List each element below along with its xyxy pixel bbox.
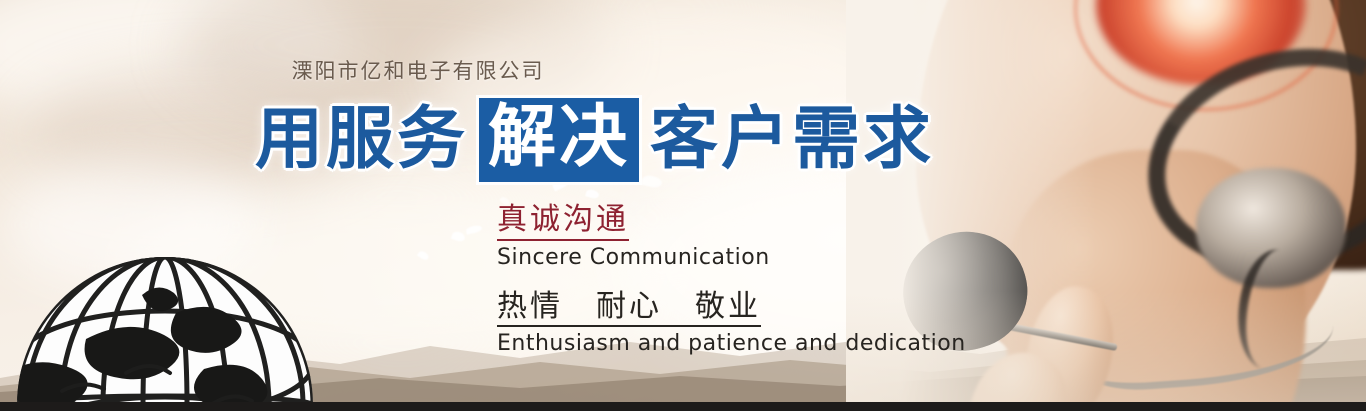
headline-tail: 客户需求 xyxy=(650,106,934,174)
slogan-2-chinese: 热情 耐心 敬业 xyxy=(497,290,761,328)
slogan-1-chinese: 真诚沟通 xyxy=(497,203,629,241)
company-name: 溧阳市亿和电子有限公司 xyxy=(0,55,1366,85)
bottom-strip xyxy=(0,402,1366,411)
slogan-2-english: Enthusiasm and patience and dedication xyxy=(497,331,966,356)
headline: 用服务 解决 客户需求 xyxy=(255,98,934,182)
headline-lead: 用服务 xyxy=(255,106,468,174)
slogan-item-2: 热情 耐心 敬业 Enthusiasm and patience and ded… xyxy=(497,290,966,357)
slogan-block: 真诚沟通 Sincere Communication 热情 耐心 敬业 Enth… xyxy=(497,203,966,365)
headline-highlight: 解决 xyxy=(479,98,639,182)
promotional-banner: 溧阳市亿和电子有限公司 用服务 解决 客户需求 真诚沟通 Sincere Com… xyxy=(0,0,1366,411)
slogan-item-1: 真诚沟通 Sincere Communication xyxy=(497,203,966,270)
slogan-1-english: Sincere Communication xyxy=(497,245,966,270)
